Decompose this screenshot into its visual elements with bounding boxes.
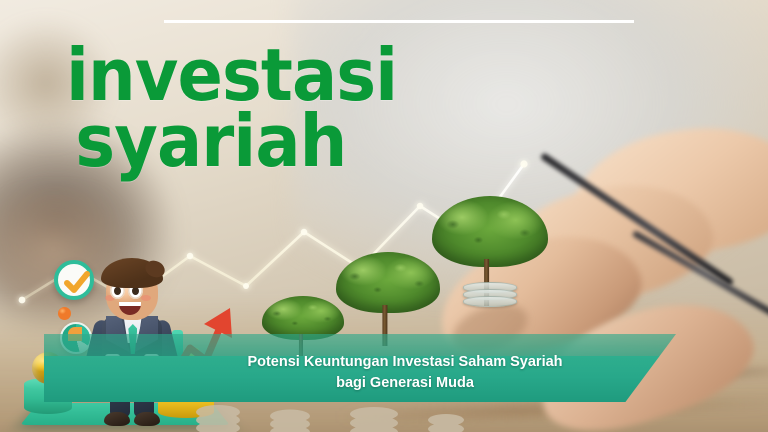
mascot-shoe-right (134, 412, 160, 426)
coin-stack-large (463, 282, 517, 308)
mascot-hair (101, 258, 163, 288)
banner-divider-rule (164, 20, 634, 23)
foreground-coin-stacks (178, 398, 478, 432)
slide-canvas: investasi syariah (0, 0, 768, 432)
mascot-cheek-right (141, 295, 151, 301)
banner-caption-line-1: Potensi Keuntungan Investasi Saham Syari… (170, 352, 640, 373)
orange-dot-icon (58, 307, 71, 320)
title-line-2: syariah (75, 108, 397, 174)
tree-canopy (336, 252, 440, 313)
banner-caption: Potensi Keuntungan Investasi Saham Syari… (0, 338, 640, 394)
tree-canopy (432, 196, 548, 267)
tree-on-coins-medium (336, 252, 440, 344)
banner-caption-line-2: bagi Generasi Muda (170, 373, 640, 394)
coin (463, 296, 517, 307)
mascot-shoe-left (104, 412, 130, 426)
page-title: investasi syariah (66, 42, 397, 174)
